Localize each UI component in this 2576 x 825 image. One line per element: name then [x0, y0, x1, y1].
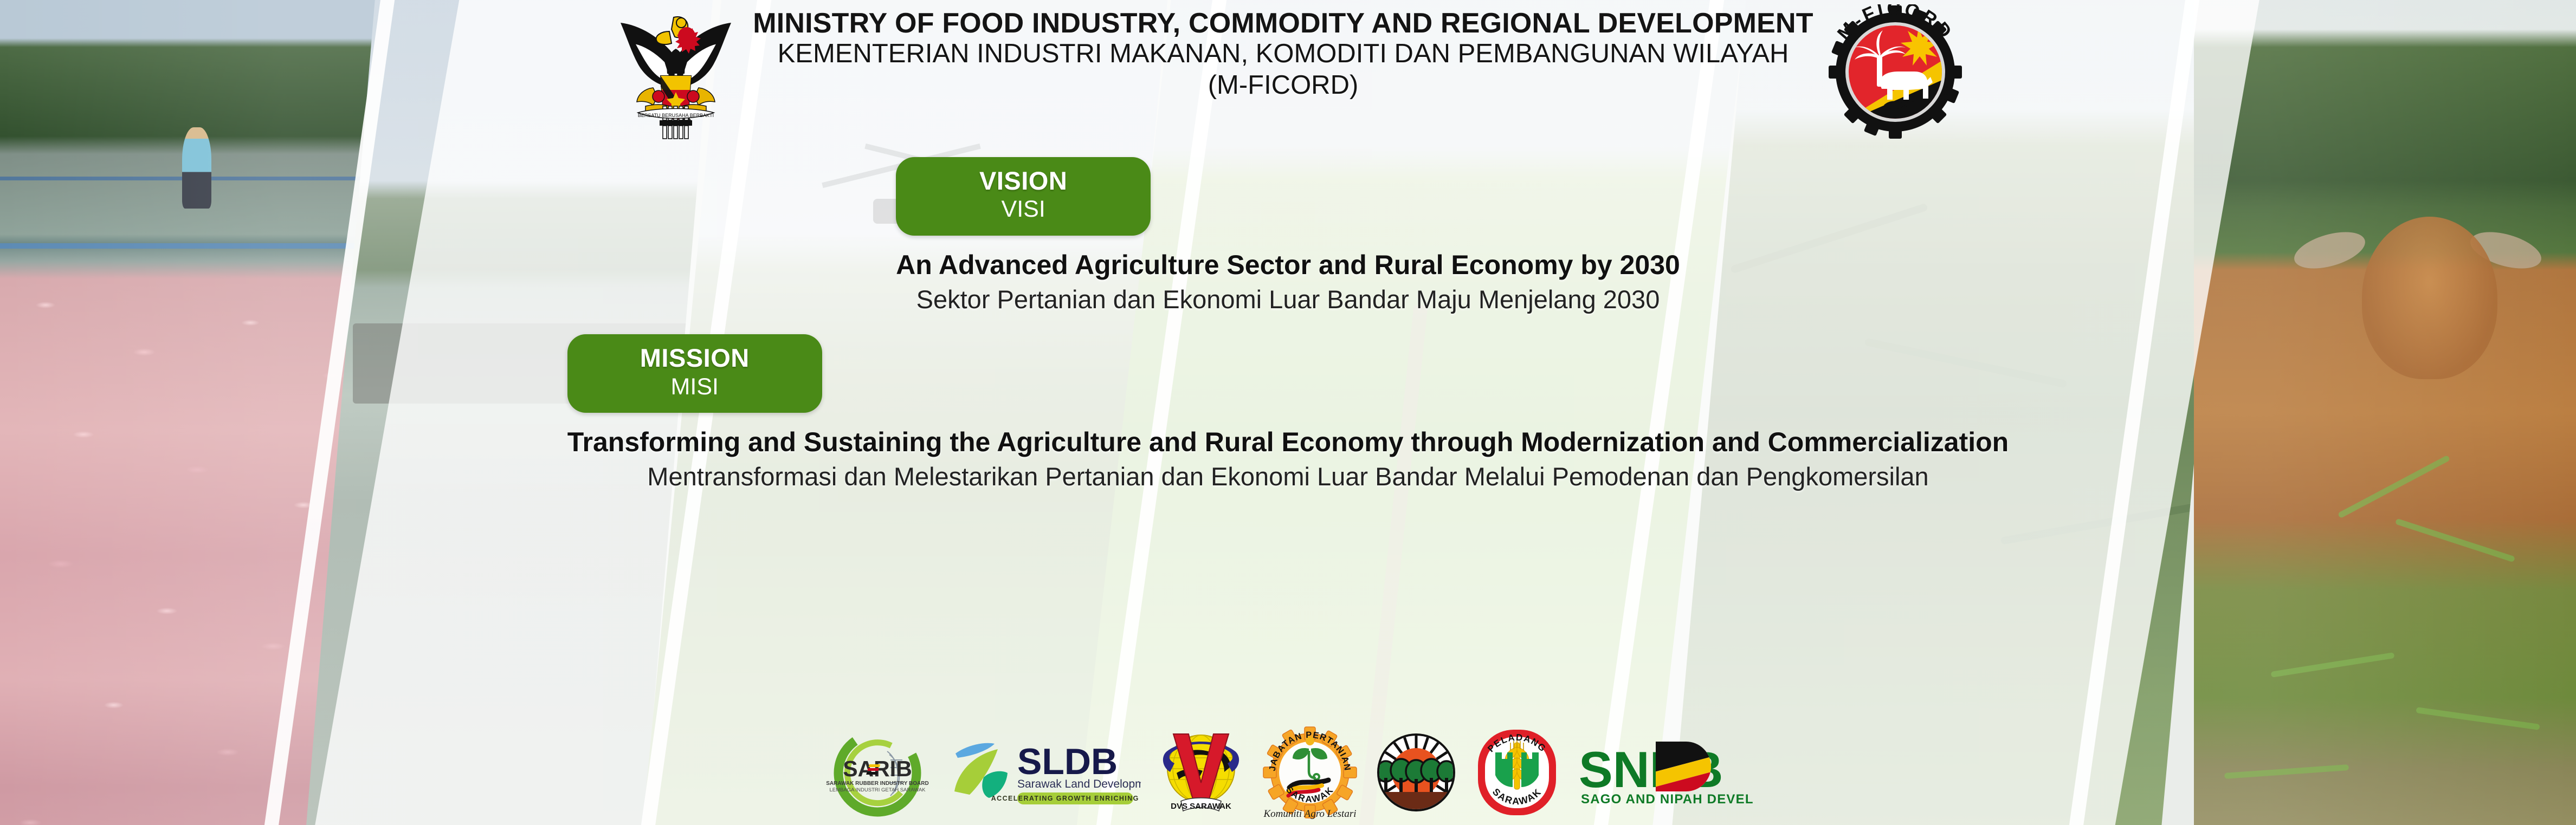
- dvs-sarawak-acronym: DVS SARAWAK: [1171, 802, 1231, 811]
- sldb-logo-icon: SLDB Sarawak Land Development Board ACCE…: [946, 732, 1141, 813]
- mission-pill: MISSION MISI: [567, 334, 822, 413]
- jps-tagline: Komuniti Agro Lestari: [1263, 808, 1356, 820]
- header-row: BERSATU BERUSAHA BERBAKTI MINISTRY OF FO…: [0, 0, 2576, 141]
- vision-block: VISION VISI An Advanced Agriculture Sect…: [896, 157, 1680, 315]
- ministry-abbreviation: (M-FICORD): [753, 69, 1813, 101]
- sarib-name-english: SARAWAK RUBBER INDUSTRY BOARD: [826, 781, 928, 787]
- jabatan-pertanian-sarawak-logo-icon: JABATAN PERTANIAN SARAWAK Komuniti Agro …: [1261, 725, 1359, 820]
- sndb-name-english: SAGO AND NIPAH DEVELOPMENT BOARD: [1581, 792, 1753, 807]
- crest-motto-text: BERSATU BERUSAHA BERBAKTI: [638, 113, 714, 118]
- mission-statement-english: Transforming and Sustaining the Agricult…: [567, 426, 2009, 458]
- sarib-logo-icon: SARIB SARAWAK RUBBER INDUSTRY BOARD LEMB…: [823, 726, 932, 818]
- agency-logo-strip: SARIB SARAWAK RUBBER INDUSTRY BOARD LEMB…: [0, 725, 2576, 820]
- m-ficord-logo-icon: M-FICORD: [1828, 4, 1963, 140]
- sldb-acronym: SLDB: [1017, 741, 1118, 782]
- ministry-title-block: MINISTRY OF FOOD INDUSTRY, COMMODITY AND…: [739, 3, 1828, 101]
- mission-statement-malay: Mentransformasi dan Melestarikan Pertani…: [567, 462, 2009, 492]
- sarawak-crest-icon: BERSATU BERUSAHA BERBAKTI: [613, 5, 739, 141]
- vision-statement-malay: Sektor Pertanian dan Ekonomi Luar Bandar…: [896, 284, 1680, 315]
- vision-pill: VISION VISI: [896, 157, 1151, 236]
- mission-label-malay: MISI: [567, 373, 822, 401]
- ministry-title-malay: KEMENTERIAN INDUSTRI MAKANAN, KOMODITI D…: [753, 39, 1813, 69]
- vision-statement-english: An Advanced Agriculture Sector and Rural…: [896, 249, 1680, 281]
- sarib-name-malay: LEMBAGA INDUSTRI GETAH SARAWAK: [829, 787, 926, 793]
- sarawak-plantation-sunrise-logo-icon: [1373, 729, 1460, 816]
- vision-label-malay: VISI: [896, 196, 1151, 224]
- sldb-name-english: Sarawak Land Development Board: [1017, 778, 1141, 790]
- peladang-sarawak-logo-icon: PELADANG SARAWAK: [1474, 726, 1560, 818]
- mficord-vision-mission-banner: BERSATU BERUSAHA BERBAKTI MINISTRY OF FO…: [0, 0, 2576, 825]
- banner-content: BERSATU BERUSAHA BERBAKTI MINISTRY OF FO…: [0, 0, 2576, 825]
- mission-label-english: MISSION: [567, 343, 822, 373]
- vision-label-english: VISION: [896, 166, 1151, 196]
- ministry-title-english: MINISTRY OF FOOD INDUSTRY, COMMODITY AND…: [753, 8, 1813, 39]
- dvs-sarawak-logo-icon: DVS SARAWAK: [1155, 726, 1247, 818]
- mission-block: MISSION MISI Transforming and Sustaining…: [567, 334, 2009, 492]
- sldb-tagline: ACCELERATING GROWTH ENRICHING LIFE: [991, 795, 1140, 802]
- sndb-logo-icon: SNDB SAGO AND NIPAH DEVELOPMENT BOARD: [1574, 737, 1753, 808]
